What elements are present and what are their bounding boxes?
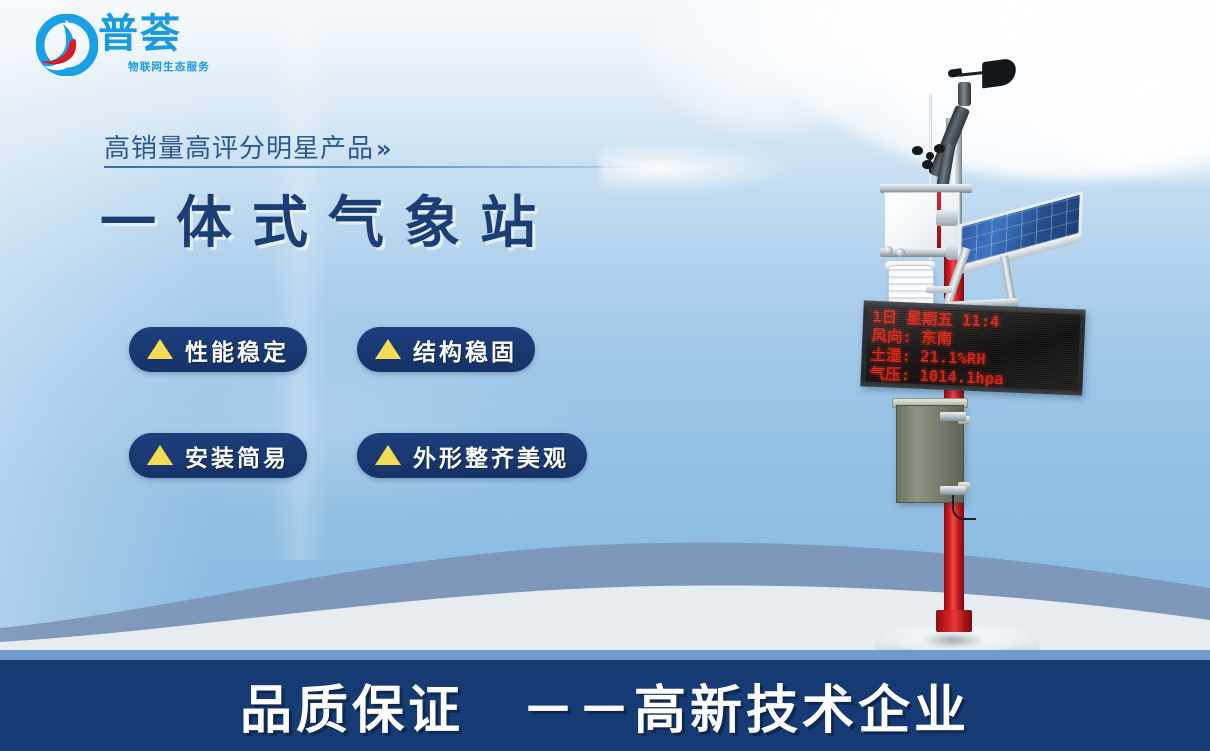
feature-pill-label: 性能稳定 [185,333,289,367]
banner-text-right: －－高新技术企业 [522,681,970,741]
cabinet-cable [952,492,976,520]
double-chevron-right-icon: » [376,135,388,163]
anemometer-cup [912,146,923,155]
pucheng-circle-swoosh-logo [36,14,98,76]
lens-flare-decoration [600,140,800,196]
pole-clamp [940,412,966,421]
banner-text: 品质保证－－高新技术企业 [240,668,970,743]
banner-text-left: 品质保证 [240,681,464,741]
base-contact-shadow [922,632,984,648]
feature-pill-1[interactable]: 结构稳固 [357,327,535,372]
bolt-icon [884,246,893,255]
anemometer-hub [926,152,934,160]
bolt-icon [896,248,905,257]
bottom-banner: 品质保证－－高新技术企业 [0,660,1210,751]
brand-tagline: 物联网生态服务 [128,59,210,74]
pole-base-flange [936,610,972,632]
solar-panel-clamp [936,210,958,226]
feature-pill-2[interactable]: 安装简易 [129,433,307,478]
solar-panel [957,191,1083,277]
led-screen: 1日 星期五 11:4 风向: 东南 土湿: 21.1%RH 气压: 1014.… [866,306,1081,391]
anemometer-cup [922,160,933,169]
banner-top-rule [0,650,1210,660]
brand-name: 普荟 [98,12,182,56]
weather-station-illustration: 1日 星期五 11:4 风向: 东南 土湿: 21.1%RH 气压: 1014.… [840,60,1100,660]
triangle-bullet-icon [147,445,173,465]
feature-pill-0[interactable]: 性能稳定 [129,327,307,372]
led-display-board[interactable]: 1日 星期五 11:4 风向: 东南 土湿: 21.1%RH 气压: 1014.… [860,300,1085,395]
triangle-bullet-icon [147,339,173,359]
anemometer-cup [934,144,945,153]
radiation-shield-arm [926,286,952,293]
feature-pill-3[interactable]: 外形整齐美观 [357,433,587,478]
feature-pill-label: 外形整齐美观 [413,439,569,473]
eyebrow-label: 高销量高评分明星产品 [104,134,374,164]
feature-pill-label: 结构稳固 [413,333,517,367]
pole-clamp [940,486,966,495]
feature-pill-label: 安装简易 [185,439,289,473]
wind-vane-tail [982,58,1016,89]
brand-logo[interactable]: 普荟 物联网生态服务 [36,14,246,76]
wind-vane-body [958,82,971,106]
triangle-bullet-icon [375,445,401,465]
poster-canvas: 普荟 物联网生态服务 高销量高评分明星产品» 一体式气象站 性能稳定 结构稳固 … [0,0,1210,751]
page-title: 一体式气象站 [100,178,556,259]
triangle-bullet-icon [375,339,401,359]
eyebrow-text: 高销量高评分明星产品» [104,128,388,165]
